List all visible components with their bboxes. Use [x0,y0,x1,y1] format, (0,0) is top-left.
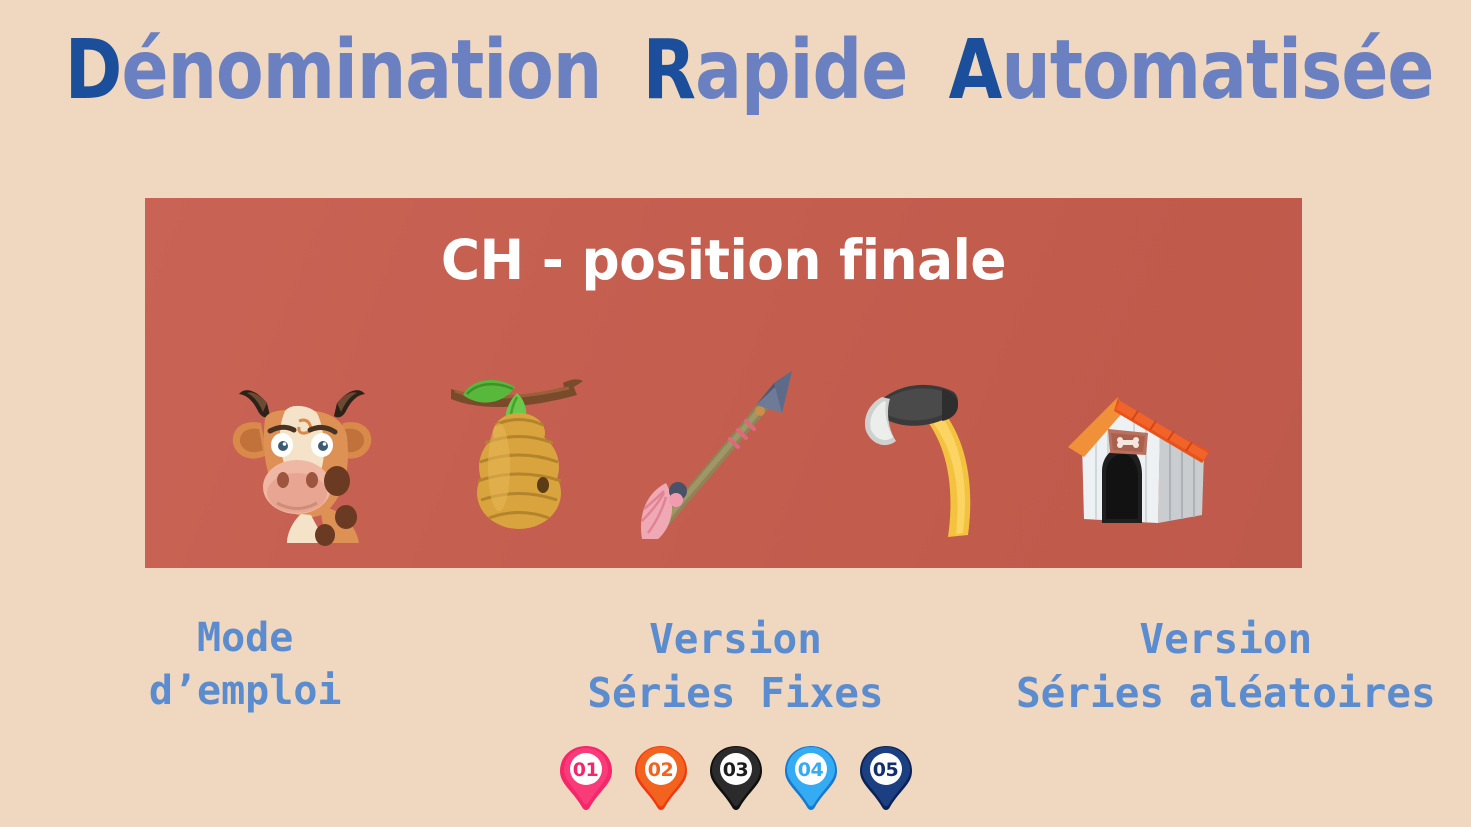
section-3-line-2: Séries aléatoires [981,666,1471,720]
map-pin-icon [558,744,614,814]
pin-marker-05[interactable]: 05 [858,744,914,814]
picture-cell-3[interactable] [636,363,796,543]
map-pin-icon [858,744,914,814]
section-2-line-1: Version [490,612,980,666]
section-series-aleatoires[interactable]: Version Séries aléatoires [981,612,1471,727]
title-word-1-rest: énomination [121,23,601,118]
picture-row [145,343,1302,543]
section-mode-emploi[interactable]: Mode d’emploi [0,612,490,727]
section-labels: Mode d’emploi Version Séries Fixes Versi… [0,612,1471,727]
section-2-line-2: Séries Fixes [490,666,980,720]
page-title: DénominationRapideAutomatisée [44,26,1427,116]
cow-head-image [225,367,385,543]
picture-cell-1[interactable] [225,363,385,543]
map-pin-icon [708,744,764,814]
banner-title: CH - position finale [162,228,1284,292]
title-word-1-initial: D [65,23,122,118]
pin-marker-04[interactable]: 04 [783,744,839,814]
section-3-line-1: Version [981,612,1471,666]
doghouse-image [1052,367,1222,543]
picture-cell-4[interactable] [844,363,1004,543]
pin-marker-01[interactable]: 01 [558,744,614,814]
pin-marker-02[interactable]: 02 [633,744,689,814]
title-word-2-initial: R [643,23,695,118]
title-word-1: Dénomination [65,26,601,116]
picture-cell-5[interactable] [1052,363,1222,543]
section-1-line-2: d’emploi [0,665,490,718]
map-pin-icon [633,744,689,814]
section-series-fixes[interactable]: Version Séries Fixes [490,612,980,727]
pin-navigation: 01 02 03 04 05 [0,744,1471,814]
title-word-2-rest: apide [695,23,907,118]
title-word-2: Rapide [643,26,908,116]
arrow-image [636,367,796,543]
pin-marker-03[interactable]: 03 [708,744,764,814]
exercise-banner: CH - position finale [145,198,1302,568]
axe-image [844,367,1004,543]
title-word-3: Automatisée [949,26,1434,116]
picture-cell-2[interactable] [433,363,588,543]
section-1-line-1: Mode [0,612,490,665]
title-word-3-initial: A [949,23,1002,118]
title-word-3-rest: utomatisée [1001,23,1433,118]
map-pin-icon [783,744,839,814]
beehive-image [433,367,588,543]
